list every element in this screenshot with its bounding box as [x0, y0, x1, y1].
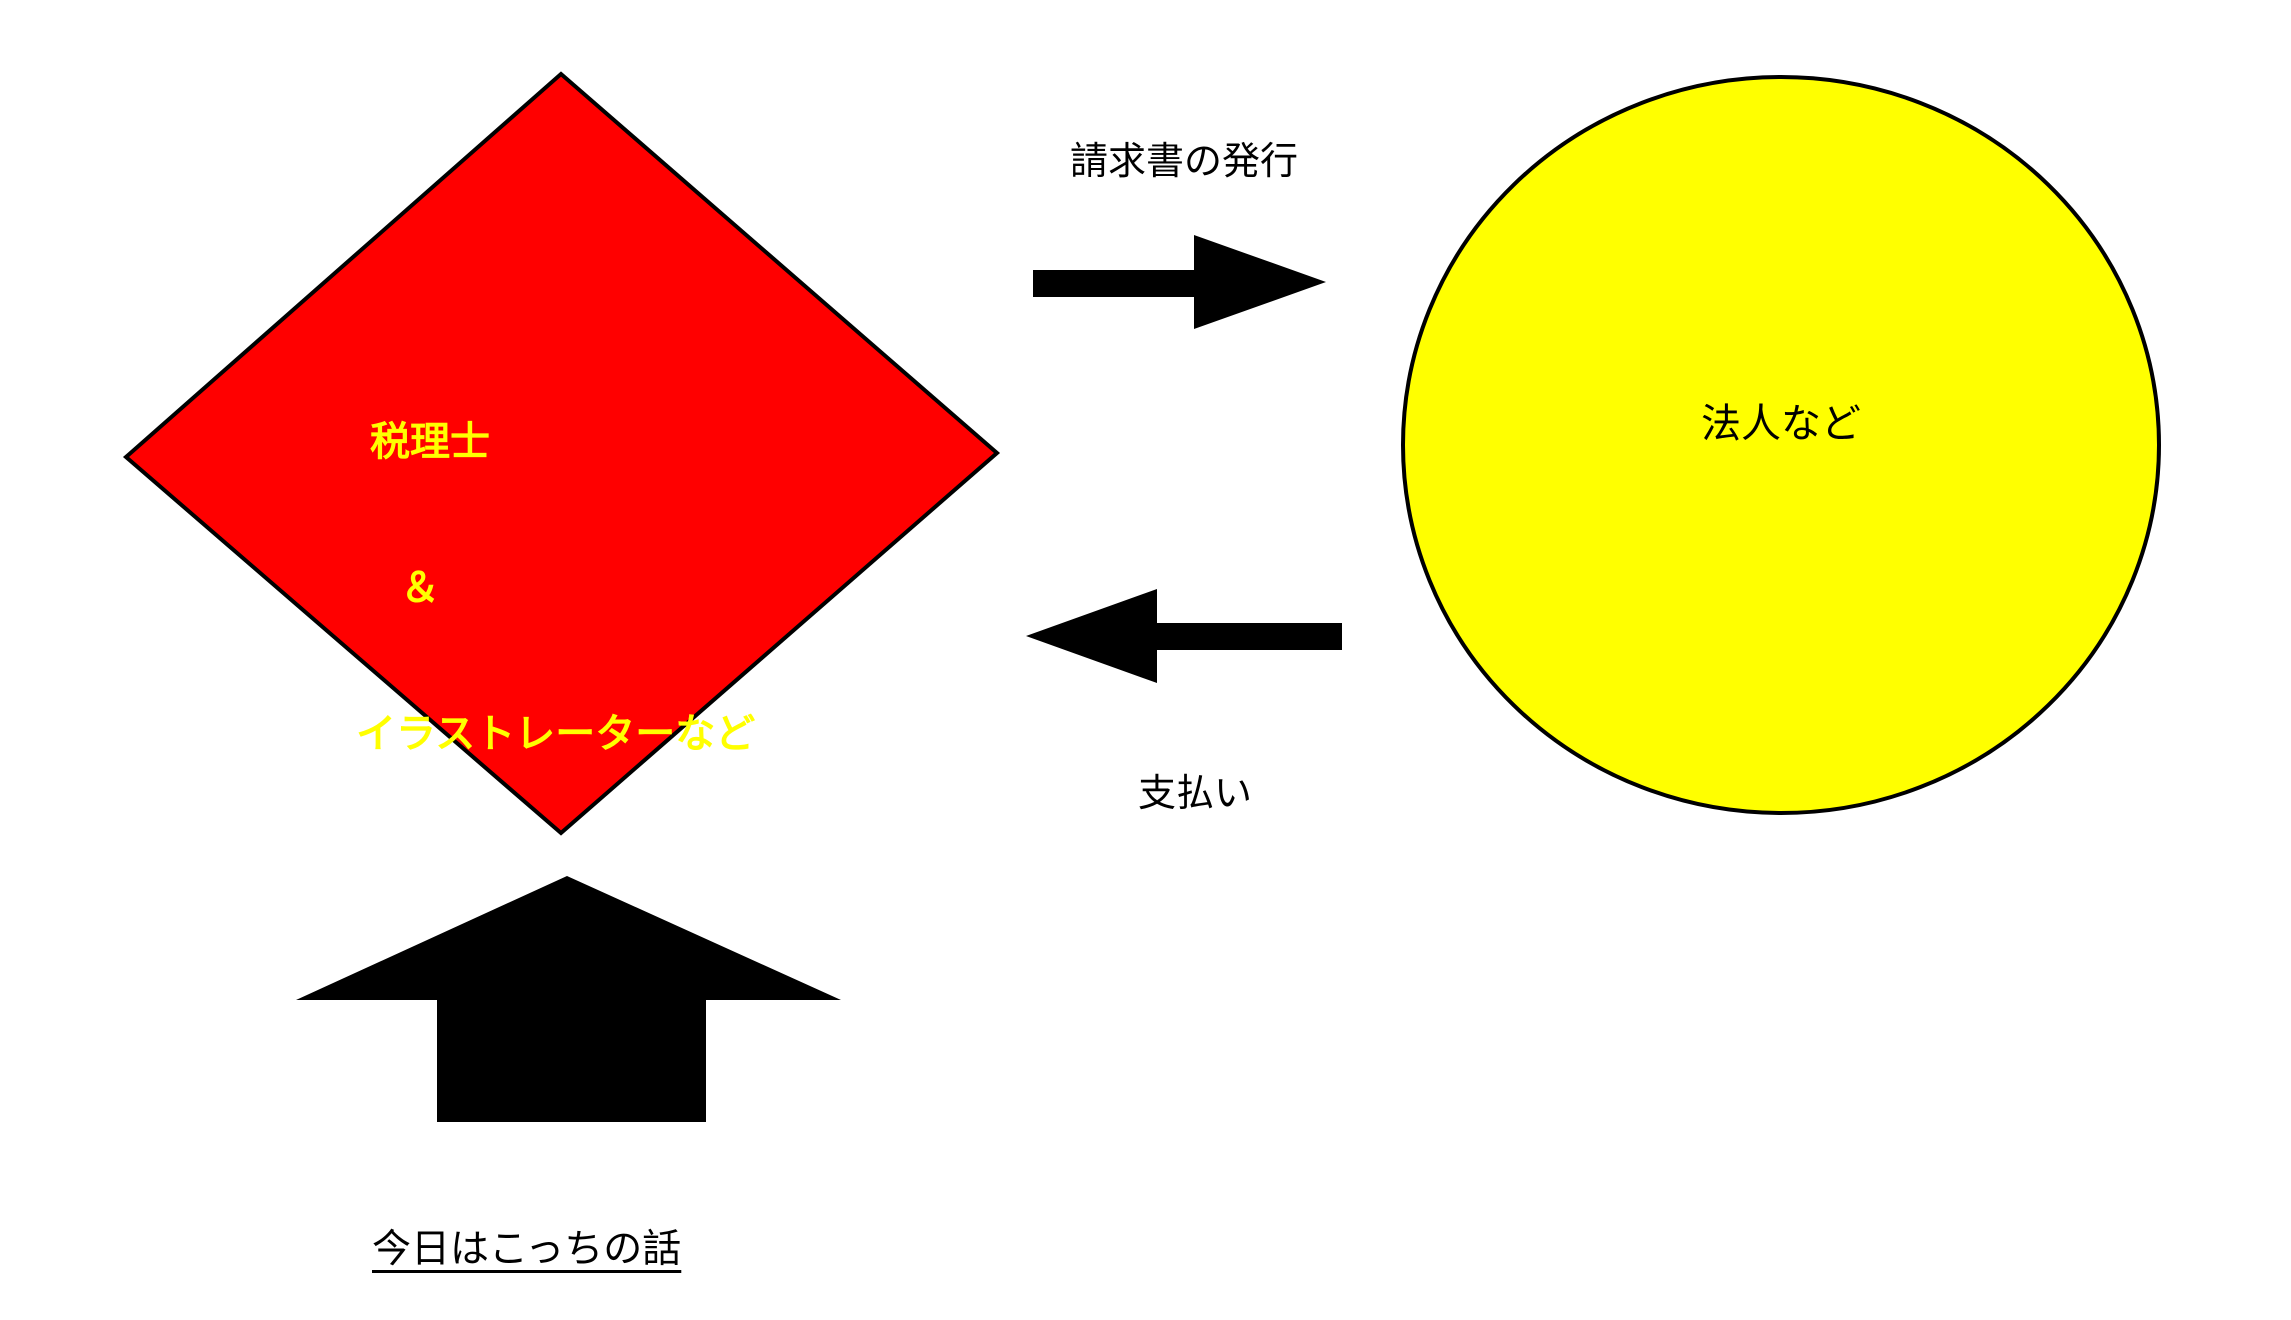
arrow-left-payment[interactable]	[1026, 589, 1342, 683]
node-diamond-label-line2: ＆	[356, 564, 826, 613]
diagram-shapes-layer	[0, 0, 2291, 1320]
arrow-up-focus[interactable]	[296, 876, 841, 1122]
edge-label-invoice: 請求書の発行	[1034, 130, 1334, 185]
node-diamond-label: 税理士 ＆ イラストレーターなど	[356, 320, 826, 857]
edge-label-payment: 支払い	[1105, 762, 1285, 817]
footnote-annotation: 今日はこっちの話	[372, 1218, 681, 1274]
arrow-right-invoice[interactable]	[1033, 235, 1326, 329]
node-diamond-label-line3: イラストレーターなど	[356, 710, 826, 759]
diagram-canvas: 税理士 ＆ イラストレーターなど 法人など 請求書の発行 支払い 今日はこっちの…	[0, 0, 2291, 1320]
node-circle-label: 法人など	[1403, 400, 2159, 449]
node-diamond-label-line1: 税理士	[356, 418, 826, 467]
